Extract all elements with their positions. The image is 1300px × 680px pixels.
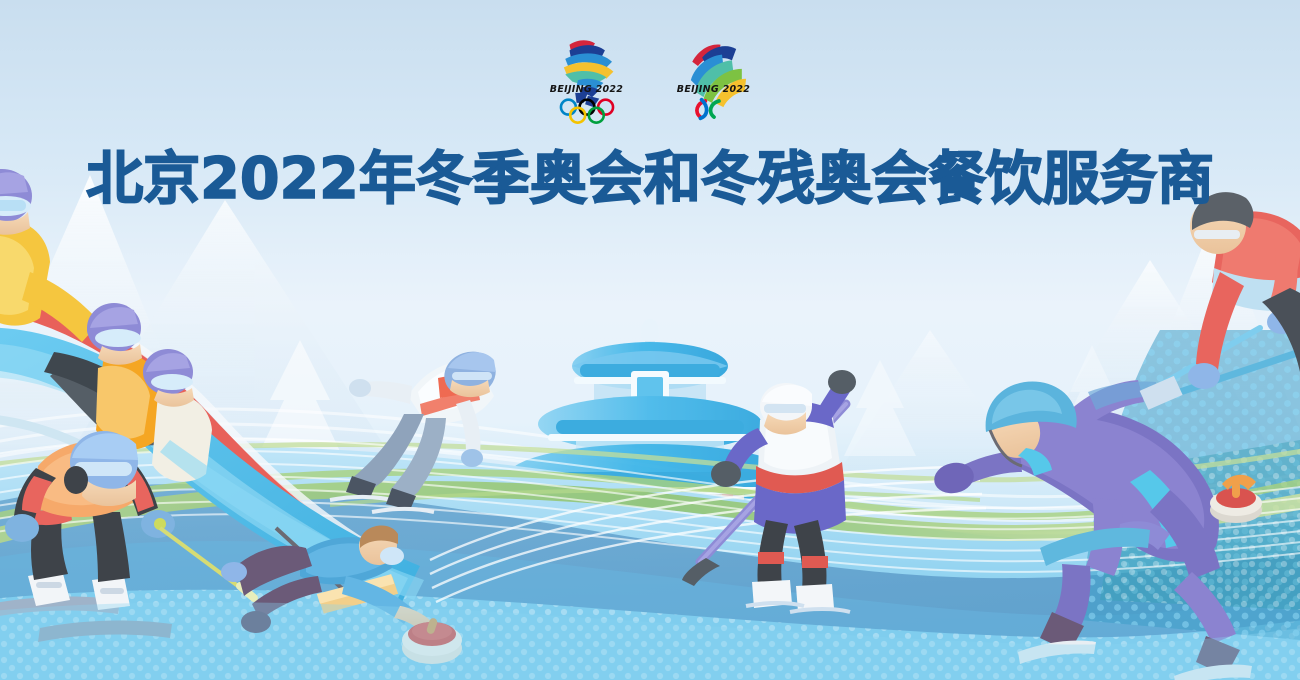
ice-hockey-player (682, 370, 856, 612)
olympic-emblem: BEIJING 2022 (544, 32, 629, 117)
title-container: 北京2022年冬季奥会和冬残奥会餐饮服务商 (0, 146, 1300, 212)
curling-stone-right (1210, 475, 1262, 523)
olympic-rings-icon (556, 97, 618, 126)
page-title: 北京2022年冬季奥会和冬残奥会餐饮服务商 (86, 146, 1214, 212)
paralympic-wordmark: BEIJING 2022 (671, 84, 756, 95)
short-track-skater (330, 345, 502, 512)
beijing-2022-banner: BEIJING 2022 (0, 0, 1300, 680)
paralympic-emblem: BEIJING 2022 (671, 32, 756, 117)
foreground-haze (0, 602, 1300, 680)
paralympic-agitos-icon (683, 97, 745, 126)
speed-skater (931, 380, 1252, 680)
emblem-row: BEIJING 2022 (0, 32, 1300, 112)
olympic-wordmark: BEIJING 2022 (544, 84, 629, 95)
